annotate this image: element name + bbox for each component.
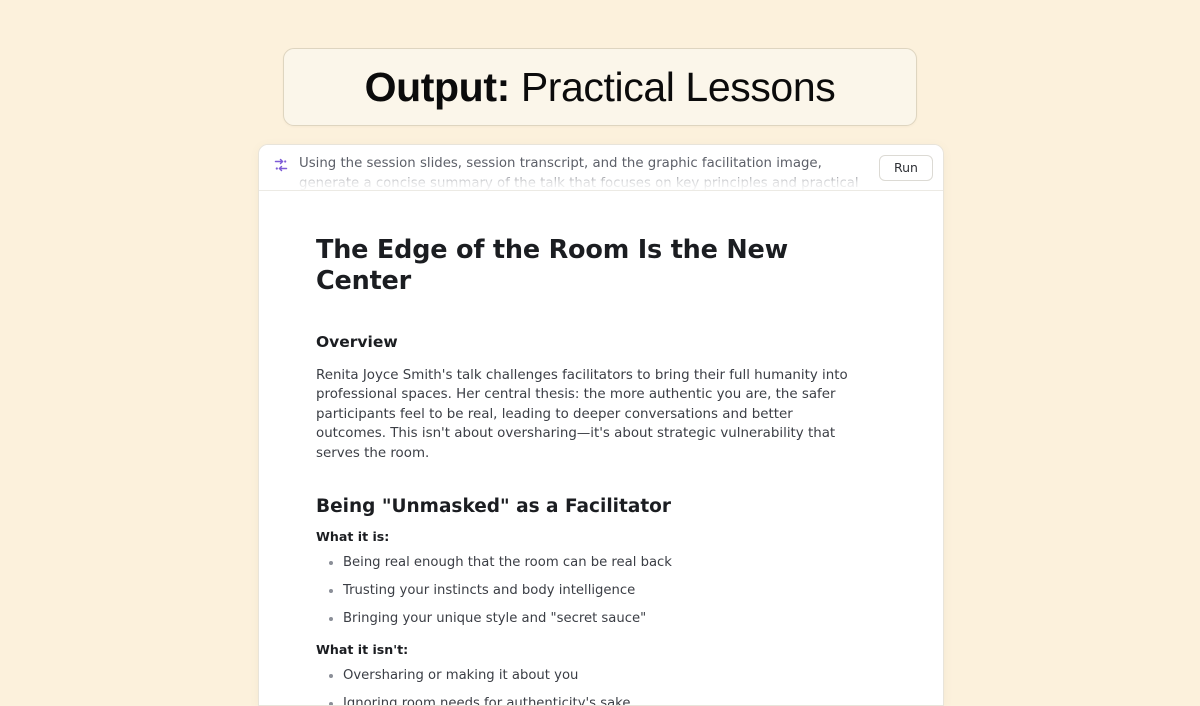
what-it-isnt-label: What it isn't: <box>316 642 887 657</box>
list-item: Being real enough that the room can be r… <box>316 554 887 572</box>
page-title-rest: Practical Lessons <box>510 64 836 110</box>
what-it-is-label: What it is: <box>316 529 887 544</box>
page-title-lead: Output: <box>365 64 510 110</box>
overview-heading: Overview <box>316 333 887 352</box>
section-spacer <box>316 464 887 495</box>
run-button[interactable]: Run <box>879 155 933 181</box>
output-title-banner: Output: Practical Lessons <box>283 48 917 126</box>
prompt-input[interactable]: Using the session slides, session transc… <box>299 154 869 191</box>
list-item: Bringing your unique style and "secret s… <box>316 610 887 628</box>
prompt-bar[interactable]: Using the session slides, session transc… <box>259 145 943 191</box>
unmasked-heading: Being "Unmasked" as a Facilitator <box>316 495 887 518</box>
screen: Output: Practical Lessons Using the sess… <box>0 0 1200 700</box>
list-item: Trusting your instincts and body intelli… <box>316 582 887 600</box>
app-panel: Using the session slides, session transc… <box>258 144 944 706</box>
prompt-text-container: Using the session slides, session transc… <box>299 154 869 191</box>
document-title: The Edge of the Room Is the New Center <box>316 235 887 296</box>
page-title: Output: Practical Lessons <box>365 67 836 108</box>
what-it-is-list: Being real enough that the room can be r… <box>316 554 887 628</box>
shuffle-arrows-icon <box>273 157 289 173</box>
overview-paragraph: Renita Joyce Smith's talk challenges fac… <box>316 366 864 464</box>
document-body: The Edge of the Room Is the New Center O… <box>259 191 943 705</box>
what-it-isnt-list: Oversharing or making it about you Ignor… <box>316 667 887 705</box>
list-item: Oversharing or making it about you <box>316 667 887 685</box>
